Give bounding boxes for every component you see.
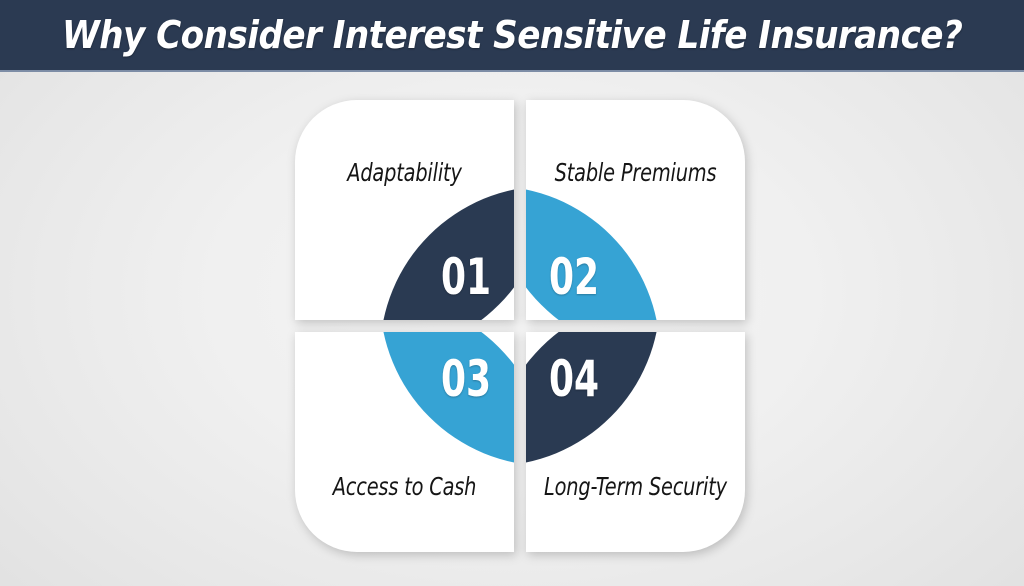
benefit-number-badge: 02 bbox=[526, 186, 660, 320]
benefit-number-badge: 01 bbox=[380, 186, 514, 320]
benefit-label: Adaptability bbox=[310, 158, 498, 187]
benefits-card-grid: Adaptability 01 Stable Premiums 02 03 Ac… bbox=[295, 100, 745, 552]
benefit-label: Access to Cash bbox=[310, 472, 498, 501]
infographic-page: Why Consider Interest Sensitive Life Ins… bbox=[0, 0, 1024, 586]
benefit-number-badge: 04 bbox=[526, 332, 660, 466]
benefit-label: Stable Premiums bbox=[541, 158, 729, 187]
benefit-number: 03 bbox=[399, 354, 514, 404]
benefit-card-adaptability[interactable]: Adaptability 01 bbox=[295, 100, 514, 320]
page-title: Why Consider Interest Sensitive Life Ins… bbox=[62, 13, 962, 57]
header-bar: Why Consider Interest Sensitive Life Ins… bbox=[0, 0, 1024, 72]
benefit-card-stable-premiums[interactable]: Stable Premiums 02 bbox=[526, 100, 745, 320]
benefit-number: 04 bbox=[526, 354, 641, 404]
benefit-number: 02 bbox=[526, 252, 641, 302]
benefit-label: Long-Term Security bbox=[541, 472, 729, 501]
benefit-card-access-to-cash[interactable]: 03 Access to Cash bbox=[295, 332, 514, 552]
benefit-card-long-term-security[interactable]: 04 Long-Term Security bbox=[526, 332, 745, 552]
benefit-number-badge: 03 bbox=[380, 332, 514, 466]
benefit-number: 01 bbox=[399, 252, 514, 302]
